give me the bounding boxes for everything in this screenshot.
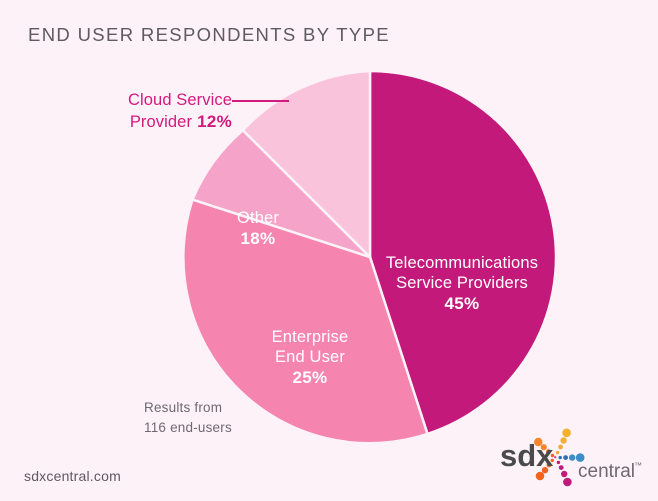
logo-svg: sdx central ™	[500, 414, 646, 496]
results-note: Results from 116 end-users	[144, 398, 232, 437]
slice-label-line1: Cloud Service	[96, 90, 232, 111]
callout-leader-line	[232, 100, 289, 102]
logo-wordmark-sdx: sdx	[500, 438, 554, 473]
results-note-line1: Results from	[144, 398, 232, 418]
slice-label-line2: Provider	[130, 113, 192, 131]
results-note-line2: 116 end-users	[144, 418, 232, 438]
logo-trademark-symbol: ™	[634, 461, 642, 470]
slice-value: 12%	[197, 112, 232, 131]
logo-wordmark-central: central	[578, 461, 635, 482]
footer-url: sdxcentral.com	[24, 468, 121, 484]
slice-label-cloud-service-provider: Cloud Service Provider12%	[96, 90, 232, 132]
chart-canvas: END USER RESPONDENTS BY TYPE Telecommuni…	[0, 0, 658, 501]
sdxcentral-logo: sdx central ™	[500, 414, 646, 496]
pie-slice-group	[183, 71, 556, 443]
slice-label-line2-wrap: Provider12%	[96, 111, 232, 133]
